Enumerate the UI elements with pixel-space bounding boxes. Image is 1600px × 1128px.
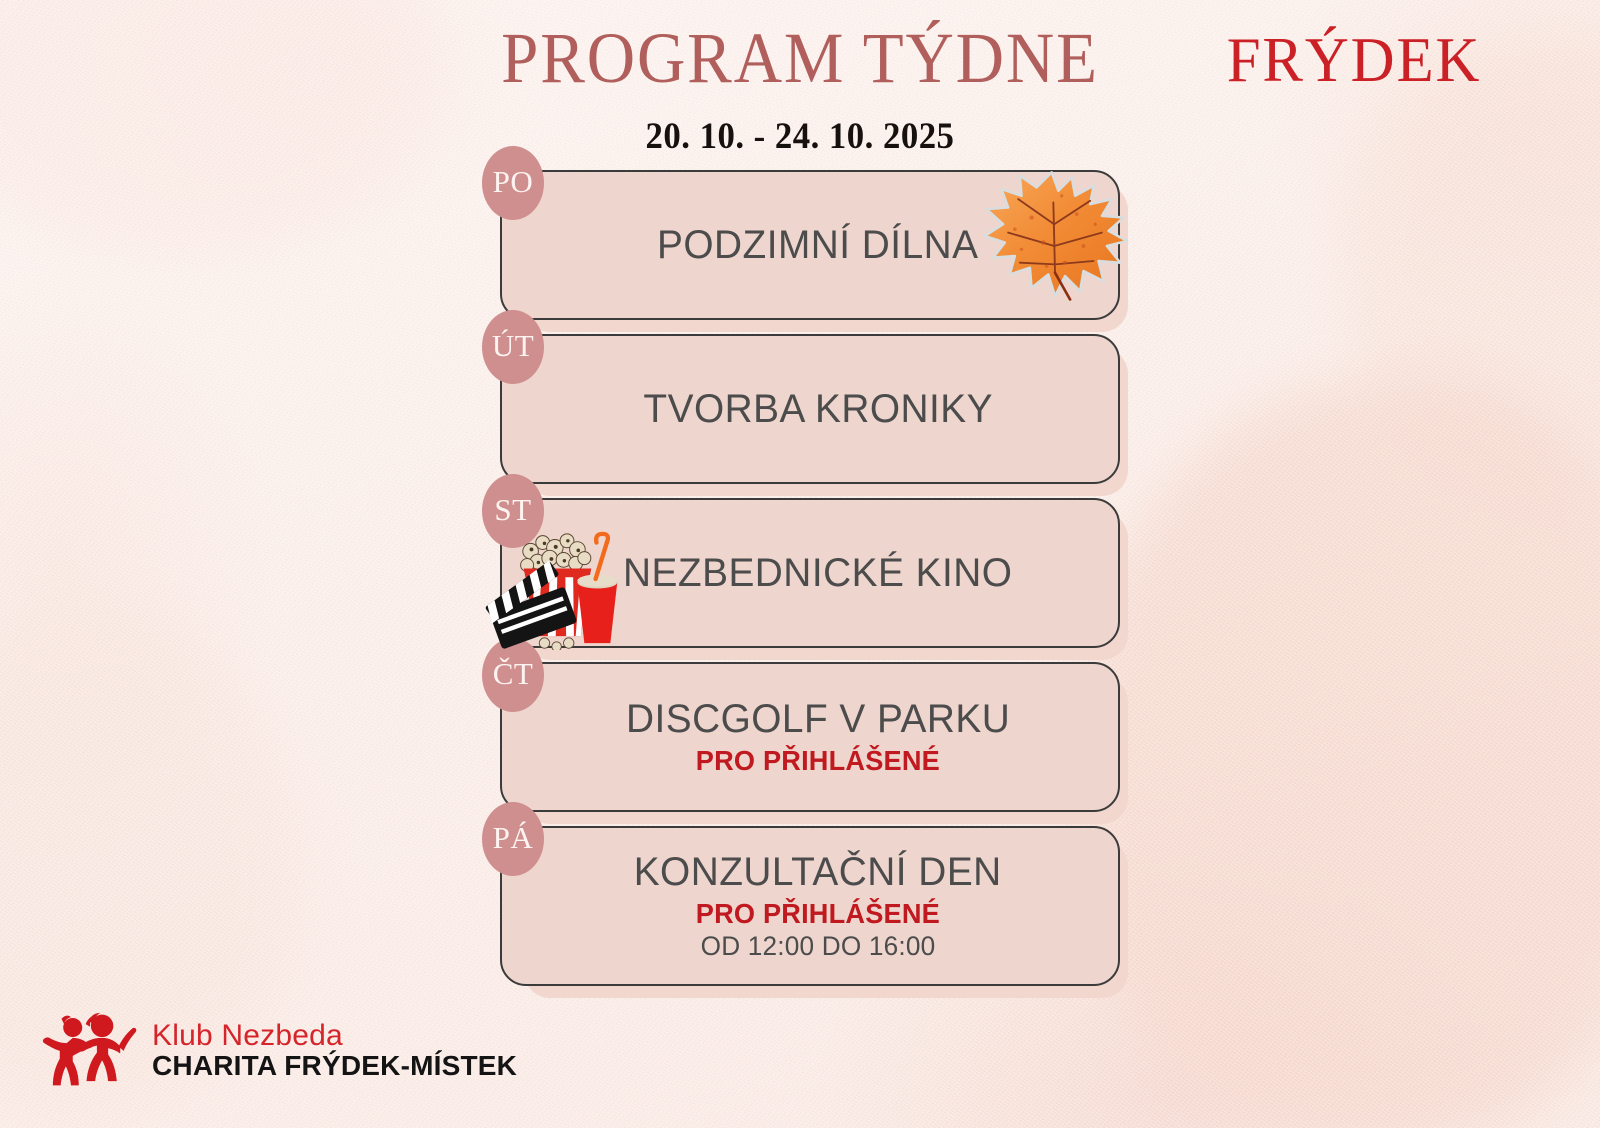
- day-card-title: KONZULTAČNÍ DEN: [634, 850, 1002, 895]
- schedule-row-ct: DISCGOLF V PARKU PRO PŘIHLÁŠENÉ ČT: [500, 662, 1120, 812]
- day-badge-st: ST: [482, 474, 544, 548]
- day-card-ct[interactable]: DISCGOLF V PARKU PRO PŘIHLÁŠENÉ: [500, 662, 1120, 812]
- background-blob-right: [1340, 40, 1600, 500]
- day-card-time: OD 12:00 DO 16:00: [701, 930, 936, 962]
- schedule-row-ut: TVORBA KRONIKY ÚT: [500, 334, 1120, 484]
- day-card-st[interactable]: NEZBEDNICKÉ KINO: [500, 498, 1120, 648]
- schedule-row-st: NEZBEDNICKÉ KINO ST: [500, 498, 1120, 648]
- day-card-ut[interactable]: TVORBA KRONIKY: [500, 334, 1120, 484]
- date-range-label: 20. 10. - 24. 10. 2025: [48, 118, 1552, 155]
- day-badge-ut: ÚT: [482, 310, 544, 384]
- logo-charity-name: CHARITA FRÝDEK-MÍSTEK: [152, 1051, 517, 1080]
- two-figures-icon: [42, 1012, 138, 1088]
- schedule-list: PODZIMNÍ DÍLNA PO: [500, 170, 1120, 1000]
- day-card-title: NEZBEDNICKÉ KINO: [623, 551, 1012, 596]
- day-card-note: PRO PŘIHLÁŠENÉ: [696, 897, 940, 930]
- schedule-row-po: PODZIMNÍ DÍLNA PO: [500, 170, 1120, 320]
- day-badge-ct: ČT: [482, 638, 544, 712]
- poster-canvas: PROGRAM TÝDNE FRÝDEK 20. 10. - 24. 10. 2…: [0, 0, 1600, 1128]
- logo-text-block: Klub Nezbeda CHARITA FRÝDEK-MÍSTEK: [152, 1020, 517, 1081]
- day-card-title: DISCGOLF V PARKU: [626, 697, 1010, 742]
- day-card-title: PODZIMNÍ DÍLNA: [657, 223, 979, 268]
- schedule-row-pa: KONZULTAČNÍ DEN PRO PŘIHLÁŠENÉ OD 12:00 …: [500, 826, 1120, 986]
- day-card-note: PRO PŘIHLÁŠENÉ: [696, 744, 940, 777]
- organization-logo: Klub Nezbeda CHARITA FRÝDEK-MÍSTEK: [42, 1012, 517, 1088]
- day-badge-po: PO: [482, 146, 544, 220]
- day-badge-pa: PÁ: [482, 802, 544, 876]
- day-card-title: TVORBA KRONIKY: [643, 387, 993, 432]
- day-card-pa[interactable]: KONZULTAČNÍ DEN PRO PŘIHLÁŠENÉ OD 12:00 …: [500, 826, 1120, 986]
- day-card-po[interactable]: PODZIMNÍ DÍLNA: [500, 170, 1120, 320]
- brand-title: FRÝDEK: [1227, 28, 1482, 92]
- logo-club-name: Klub Nezbeda: [152, 1020, 517, 1052]
